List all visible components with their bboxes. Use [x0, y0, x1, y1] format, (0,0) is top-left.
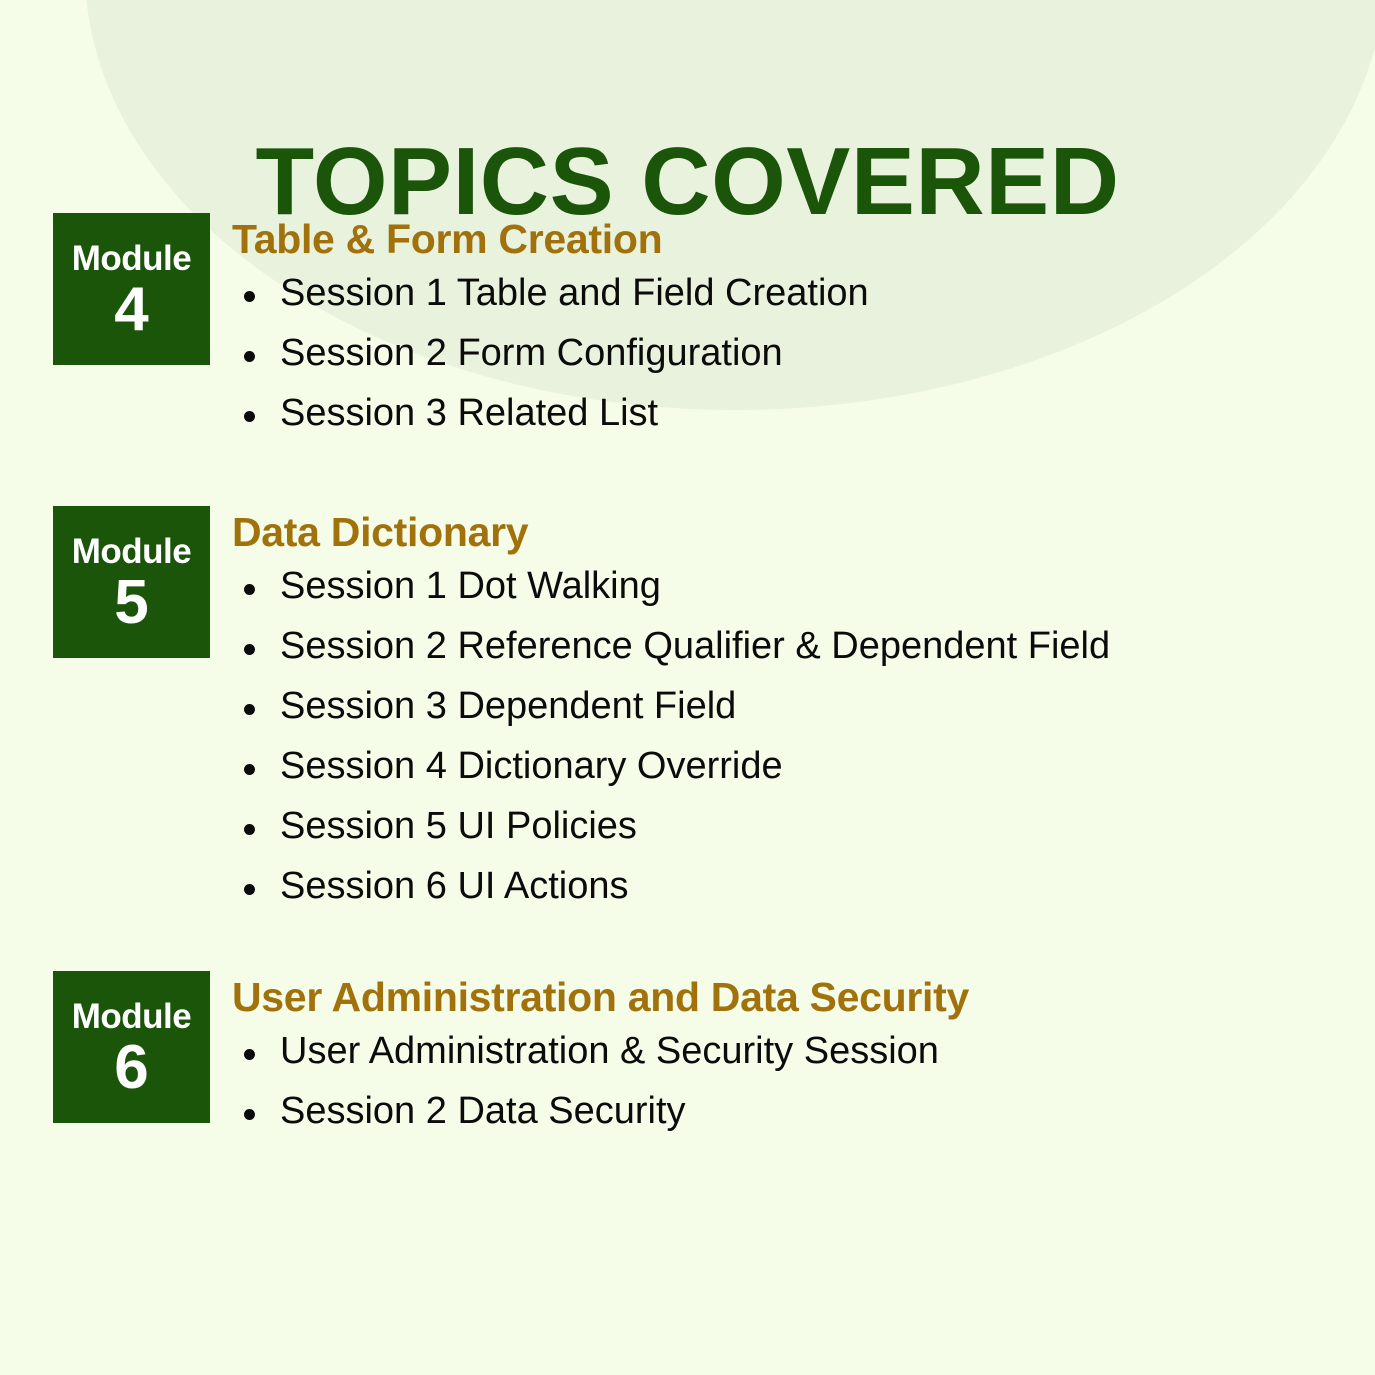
module-badge-number: 5 [114, 571, 148, 634]
module-badge-number: 6 [114, 1036, 148, 1099]
module-content: Data Dictionary Session 1 Dot Walking Se… [232, 506, 1110, 905]
list-item: Session 1 Table and Field Creation [232, 274, 869, 312]
module-heading: User Administration and Data Security [232, 975, 969, 1020]
list-item: Session 3 Dependent Field [232, 687, 1110, 725]
list-item: Session 3 Related List [232, 394, 869, 432]
module-heading: Data Dictionary [232, 510, 1110, 555]
module-badge-label: Module [72, 241, 191, 276]
module-badge-label: Module [72, 999, 191, 1034]
session-list: User Administration & Security Session S… [232, 1032, 969, 1130]
module-badge-label: Module [72, 534, 191, 569]
session-list: Session 1 Table and Field Creation Sessi… [232, 274, 869, 432]
module-content: Table & Form Creation Session 1 Table an… [232, 213, 869, 432]
module-row: Module 5 Data Dictionary Session 1 Dot W… [53, 506, 1110, 905]
module-badge: Module 5 [53, 506, 210, 658]
slide-canvas: TOPICS COVERED Module 4 Table & Form Cre… [0, 0, 1375, 1375]
module-badge: Module 4 [53, 213, 210, 365]
list-item: Session 2 Form Configuration [232, 334, 869, 372]
list-item: Session 2 Reference Qualifier & Dependen… [232, 627, 1110, 665]
module-badge: Module 6 [53, 971, 210, 1123]
module-row: Module 4 Table & Form Creation Session 1… [53, 213, 869, 432]
list-item: User Administration & Security Session [232, 1032, 969, 1070]
module-content: User Administration and Data Security Us… [232, 971, 969, 1130]
module-heading: Table & Form Creation [232, 217, 869, 262]
list-item: Session 5 UI Policies [232, 807, 1110, 845]
list-item: Session 6 UI Actions [232, 867, 1110, 905]
list-item: Session 2 Data Security [232, 1092, 969, 1130]
session-list: Session 1 Dot Walking Session 2 Referenc… [232, 567, 1110, 905]
list-item: Session 4 Dictionary Override [232, 747, 1110, 785]
module-row: Module 6 User Administration and Data Se… [53, 971, 969, 1130]
module-badge-number: 4 [114, 278, 148, 341]
list-item: Session 1 Dot Walking [232, 567, 1110, 605]
